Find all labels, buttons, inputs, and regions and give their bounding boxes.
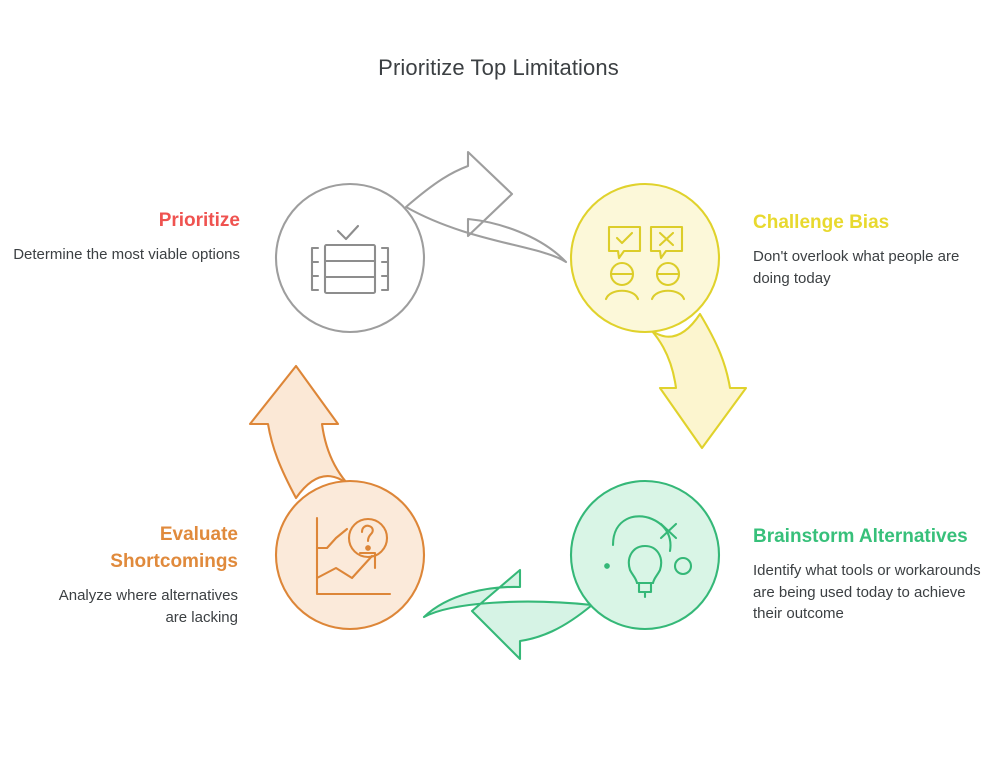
stage-text-prioritize: Prioritize Determine the most viable opt…: [8, 208, 240, 266]
arrow-brainstorm-to-evaluate: [424, 570, 592, 659]
arrow-prioritize-to-challenge: [406, 152, 566, 262]
stage-circle-evaluate-shortcomings[interactable]: [276, 481, 424, 629]
stage-heading-prioritize: Prioritize: [8, 208, 240, 235]
arrow-challenge-to-brainstorm: [634, 314, 746, 448]
arrow-evaluate-to-prioritize: [250, 366, 362, 498]
cycle-diagram: [0, 0, 997, 768]
stage-text-challenge-bias: Challenge Bias Don't overlook what peopl…: [753, 210, 989, 289]
stage-text-evaluate-shortcomings: Evaluate Shortcomings Analyze where alte…: [40, 522, 238, 628]
stage-circle-prioritize[interactable]: [276, 184, 424, 332]
stage-circle-challenge-bias[interactable]: [571, 184, 719, 332]
stage-heading-challenge-bias: Challenge Bias: [753, 210, 989, 237]
stage-text-brainstorm-alternatives: Brainstorm Alternatives Identify what to…: [753, 524, 993, 625]
stage-description-evaluate-shortcomings: Analyze where alternatives are lacking: [40, 585, 238, 629]
stage-heading-evaluate-shortcomings: Evaluate Shortcomings: [40, 522, 238, 576]
stage-circle-brainstorm-alternatives[interactable]: [571, 481, 719, 629]
stage-description-prioritize: Determine the most viable options: [8, 244, 240, 266]
stage-description-brainstorm-alternatives: Identify what tools or workarounds are b…: [753, 560, 993, 625]
stage-heading-brainstorm-alternatives: Brainstorm Alternatives: [753, 524, 993, 551]
diagram-canvas: Prioritize Top Limitations: [0, 0, 997, 768]
stage-description-challenge-bias: Don't overlook what people are doing tod…: [753, 246, 989, 290]
